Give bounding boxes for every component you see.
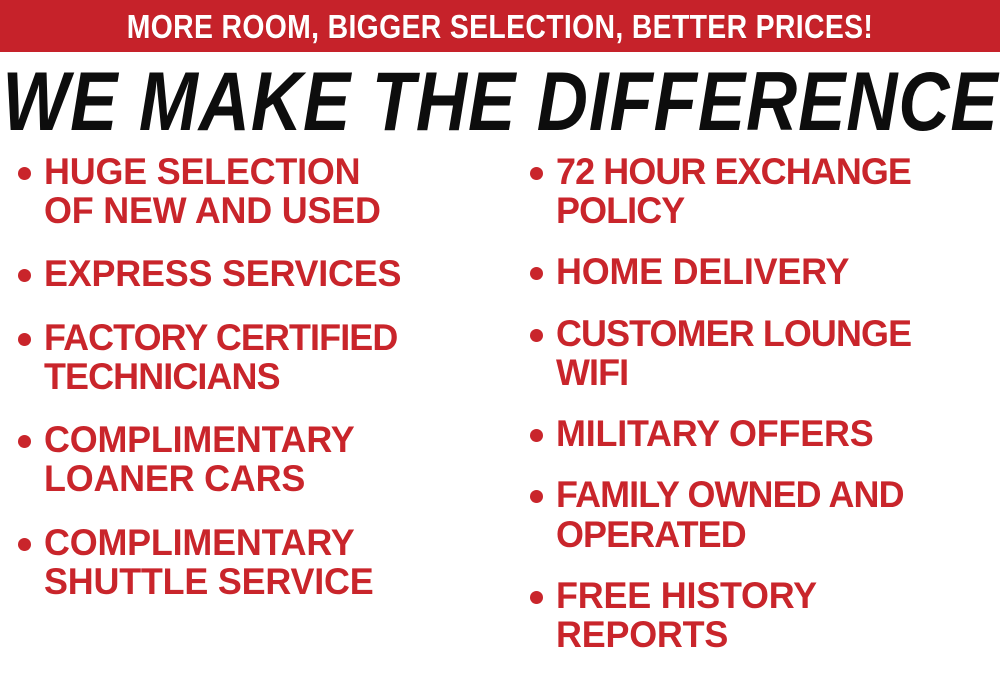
bullet-dot-icon	[18, 269, 31, 282]
list-item: HUGE SELECTION OF NEW AND USED	[18, 152, 510, 230]
list-item-label: FREE HISTORY REPORTS	[556, 576, 817, 654]
list-item: 72 HOUR EXCHANGE POLICY	[530, 152, 1000, 230]
list-item: CUSTOMER LOUNGE WIFI	[530, 314, 1000, 392]
list-item-label: FACTORY CERTIFIED TECHNICIANS	[44, 318, 397, 396]
bullet-dot-icon	[530, 329, 543, 342]
list-item-label: COMPLIMENTARY SHUTTLE SERVICE	[44, 523, 373, 601]
bullet-dot-icon	[530, 490, 543, 503]
list-item: FREE HISTORY REPORTS	[530, 576, 1000, 654]
bullet-dot-icon	[18, 435, 31, 448]
list-item-label: CUSTOMER LOUNGE WIFI	[556, 314, 911, 392]
list-item-label: HOME DELIVERY	[556, 252, 849, 291]
promo-poster: MORE ROOM, BIGGER SELECTION, BETTER PRIC…	[0, 0, 1000, 694]
list-item: HOME DELIVERY	[530, 252, 1000, 291]
bullet-dot-icon	[530, 267, 543, 280]
bullet-dot-icon	[530, 429, 543, 442]
list-item: MILITARY OFFERS	[530, 414, 1000, 453]
bullet-dot-icon	[530, 591, 543, 604]
benefits-columns: HUGE SELECTION OF NEW AND USED EXPRESS S…	[0, 152, 1000, 694]
main-headline-text: WE MAKE THE DIFFERENCE	[2, 60, 998, 143]
benefits-column-left: HUGE SELECTION OF NEW AND USED EXPRESS S…	[0, 152, 510, 625]
list-item: FACTORY CERTIFIED TECHNICIANS	[18, 318, 510, 396]
bullet-dot-icon	[530, 167, 543, 180]
top-banner: MORE ROOM, BIGGER SELECTION, BETTER PRIC…	[0, 0, 1000, 52]
list-item-label: EXPRESS SERVICES	[44, 254, 401, 293]
list-item-label: 72 HOUR EXCHANGE POLICY	[556, 152, 911, 230]
bullet-dot-icon	[18, 167, 31, 180]
benefits-column-right: 72 HOUR EXCHANGE POLICY HOME DELIVERY CU…	[510, 152, 1000, 676]
list-item-label: FAMILY OWNED AND OPERATED	[556, 475, 904, 553]
bullet-dot-icon	[18, 333, 31, 346]
list-item: COMPLIMENTARY SHUTTLE SERVICE	[18, 523, 510, 601]
banner-headline-text: MORE ROOM, BIGGER SELECTION, BETTER PRIC…	[127, 10, 873, 43]
bullet-dot-icon	[18, 538, 31, 551]
list-item: EXPRESS SERVICES	[18, 254, 510, 293]
list-item: COMPLIMENTARY LOANER CARS	[18, 420, 510, 498]
main-headline-container: WE MAKE THE DIFFERENCE	[0, 62, 1000, 142]
list-item-label: HUGE SELECTION OF NEW AND USED	[44, 152, 381, 230]
list-item-label: COMPLIMENTARY LOANER CARS	[44, 420, 355, 498]
list-item: FAMILY OWNED AND OPERATED	[530, 475, 1000, 553]
list-item-label: MILITARY OFFERS	[556, 414, 873, 453]
